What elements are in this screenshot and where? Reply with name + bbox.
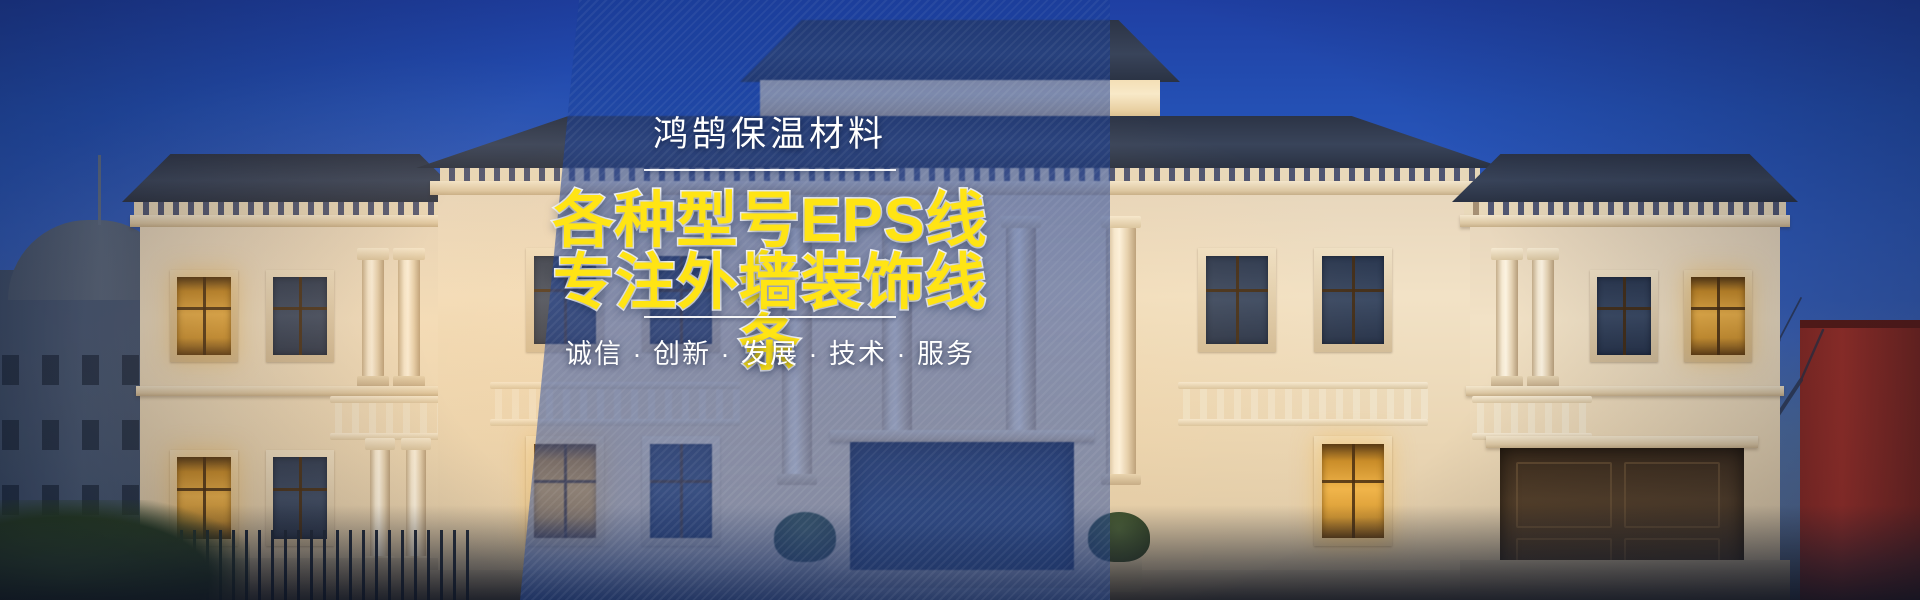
background-mast	[98, 155, 101, 225]
hero-banner: 鸿鹄保温材料 各种型号EPS线条 专注外墙装饰线条 诚信 · 创新 · 发展 ·…	[0, 0, 1920, 600]
overlay-hatch-texture	[520, 0, 1110, 600]
overlay-band	[520, 0, 1110, 600]
